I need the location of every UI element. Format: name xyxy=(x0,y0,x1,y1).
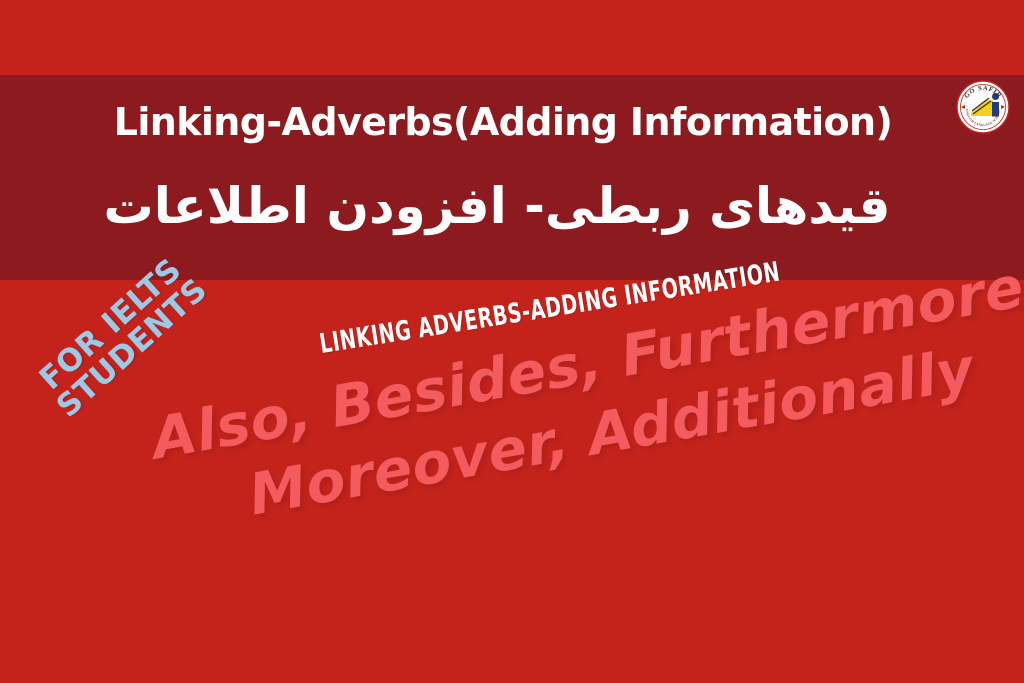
poster-canvas: Linking-Adverbs(Adding Information) قیده… xyxy=(0,0,1024,683)
go-safir-logo-icon[interactable]: GO SAFIR ENGLISH LANGUAGE SCHOOL xyxy=(956,80,1010,134)
page-title-english: Linking-Adverbs(Adding Information) xyxy=(0,103,1024,141)
